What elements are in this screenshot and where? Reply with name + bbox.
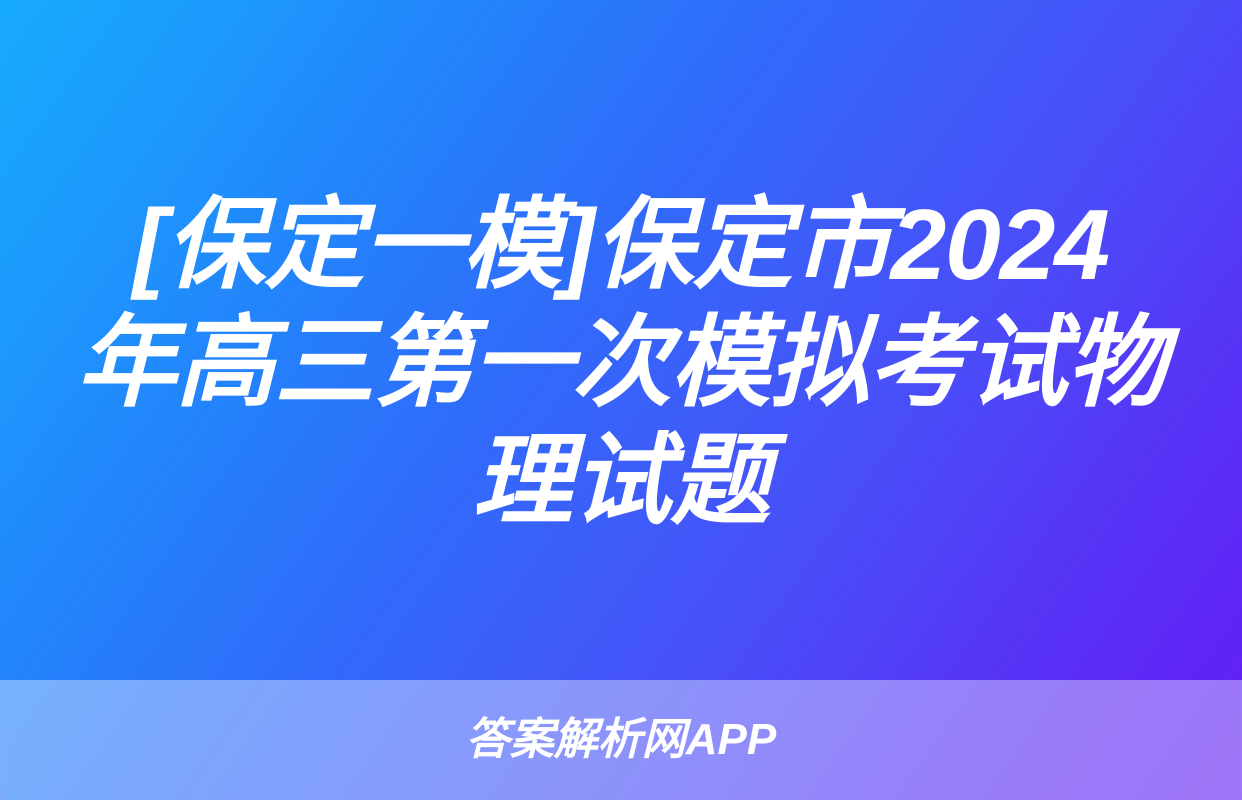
title-line-1: [保定一模]保定市2024 — [62, 186, 1180, 304]
page-title: [保定一模]保定市2024 年高三第一次模拟考试物 理试题 — [62, 186, 1180, 540]
watermark-band: 答案解析网APP — [0, 680, 1242, 800]
title-line-3: 理试题 — [62, 422, 1180, 540]
poster-canvas: [保定一模]保定市2024 年高三第一次模拟考试物 理试题 答案解析网APP — [0, 0, 1242, 800]
watermark-label: 答案解析网APP — [466, 718, 776, 762]
title-line-2: 年高三第一次模拟考试物 — [62, 304, 1180, 422]
